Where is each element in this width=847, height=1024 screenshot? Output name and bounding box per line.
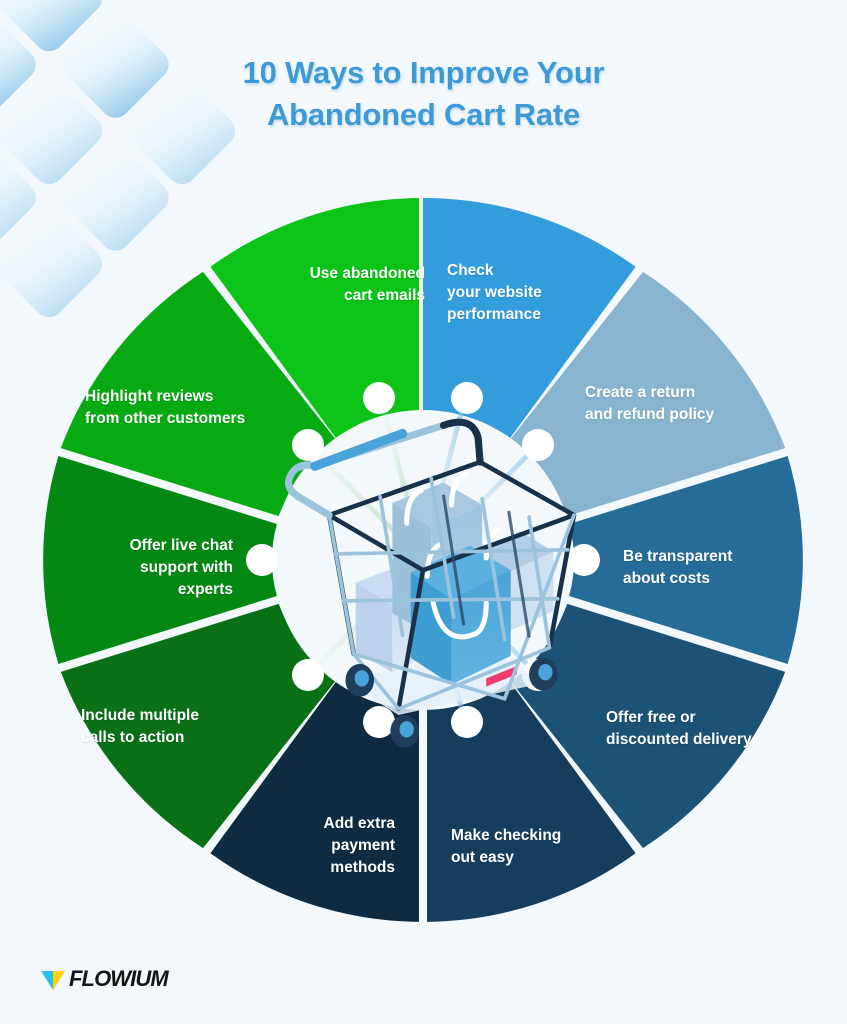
connector-dot — [363, 382, 395, 414]
wheel-label-6: Add extra payment methods — [275, 813, 395, 879]
connector-dot — [363, 706, 395, 738]
wheel-label-3: Be transparent about costs — [623, 546, 803, 590]
page-title: 10 Ways to Improve Your Abandoned Cart R… — [0, 52, 847, 135]
wheel-label-5: Make checking out easy — [451, 825, 621, 869]
wheel-label-7: Include multiple calls to action — [81, 705, 276, 749]
wheel-label-2: Create a return and refund policy — [585, 382, 775, 426]
flowium-logo[interactable]: FLOWIUM — [40, 966, 168, 992]
wheel-label-10: Use abandoned cart emails — [235, 263, 425, 307]
connector-dot — [292, 429, 324, 461]
wheel-label-9: Highlight reviews from other customers — [85, 386, 320, 430]
wheel-label-1: Check your website performance — [447, 260, 607, 326]
connector-dot — [451, 706, 483, 738]
infographic-page: 10 Ways to Improve Your Abandoned Cart R… — [0, 0, 847, 1024]
connector-dot — [522, 429, 554, 461]
flowium-triangle-mark — [40, 967, 66, 991]
connector-dot — [451, 382, 483, 414]
connector-dot — [568, 544, 600, 576]
connector-dot — [292, 659, 324, 691]
wheel-label-8: Offer live chat support with experts — [71, 535, 233, 601]
logo-text: FLOWIUM — [69, 966, 168, 992]
wheel-label-4: Offer free or discounted delivery — [606, 707, 806, 751]
connector-dot — [246, 544, 278, 576]
